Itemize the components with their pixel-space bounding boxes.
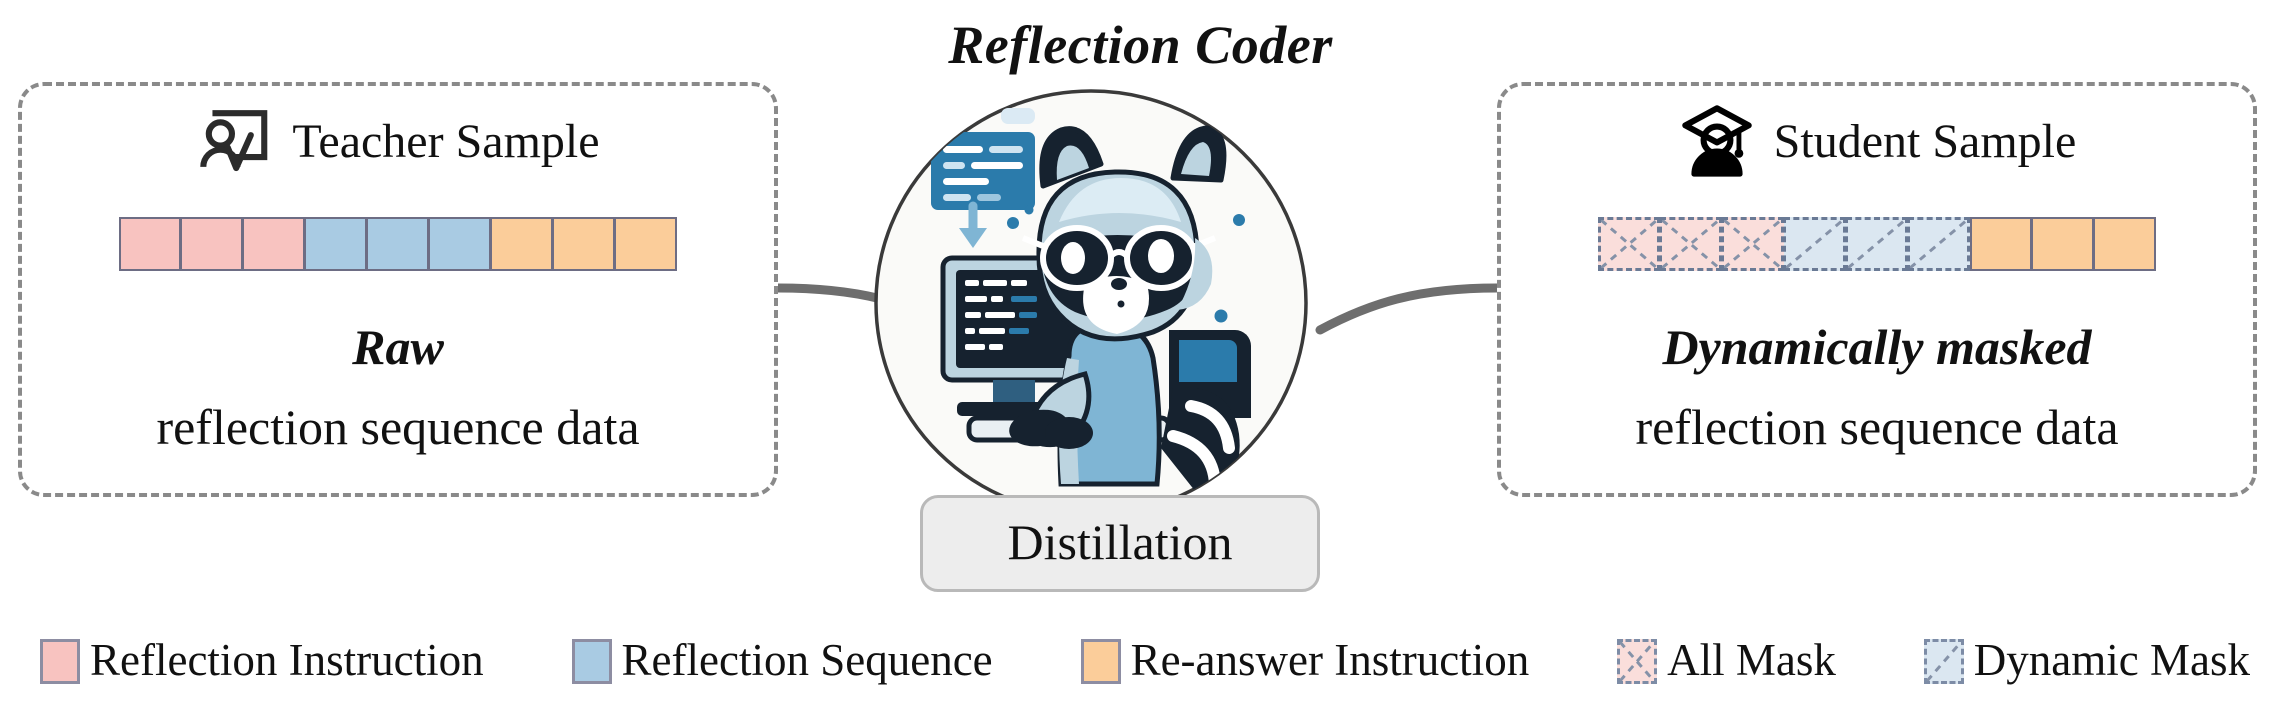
token-cell-all-mask <box>1660 217 1722 271</box>
token-cell-reflection-sequence <box>305 217 367 271</box>
student-caption-emphasis: Dynamically masked <box>1501 318 2253 376</box>
token-cell-all-mask <box>1598 217 1660 271</box>
distillation-box[interactable]: Distillation <box>920 495 1320 592</box>
token-cell-dynamic-mask <box>1908 217 1970 271</box>
token-cell-re-answer-instruction <box>2032 217 2094 271</box>
dynamic-mask-swatch <box>1924 639 1964 684</box>
re-answer-instruction-swatch <box>1081 639 1121 684</box>
token-cell-re-answer-instruction <box>2094 217 2156 271</box>
reflection-coder-diagram: Reflection Coder Teacher Sample Raw refl… <box>0 0 2281 709</box>
legend-label: Dynamic Mask <box>1974 638 2250 683</box>
token-cell-re-answer-instruction <box>615 217 677 271</box>
token-cell-reflection-sequence <box>429 217 491 271</box>
student-panel-title: Student Sample <box>1774 118 2077 166</box>
legend-item-all-mask: All Mask <box>1617 639 1836 684</box>
raccoon-coder-mascot <box>873 88 1310 518</box>
legend-label: All Mask <box>1667 638 1836 683</box>
teacher-sample-panel: Teacher Sample Raw reflection sequence d… <box>18 82 778 497</box>
teacher-board-check-icon <box>196 101 274 179</box>
legend: Reflection InstructionReflection Sequenc… <box>40 630 2250 692</box>
token-cell-re-answer-instruction <box>491 217 553 271</box>
legend-label: Re-answer Instruction <box>1131 638 1530 683</box>
student-panel-header: Student Sample <box>1501 94 2253 186</box>
token-cell-re-answer-instruction <box>553 217 615 271</box>
teacher-caption-emphasis: Raw <box>22 318 774 376</box>
legend-item-re-answer-instruction: Re-answer Instruction <box>1081 639 1530 684</box>
token-cell-dynamic-mask <box>1784 217 1846 271</box>
token-cell-dynamic-mask <box>1846 217 1908 271</box>
student-sequence-bar <box>1598 217 2156 271</box>
reflection-sequence-swatch <box>572 639 612 684</box>
graduation-cap-student-icon <box>1678 101 1756 179</box>
legend-item-reflection-instruction: Reflection Instruction <box>40 639 484 684</box>
token-cell-reflection-instruction <box>181 217 243 271</box>
legend-item-reflection-sequence: Reflection Sequence <box>572 639 993 684</box>
legend-label: Reflection Sequence <box>622 638 993 683</box>
distillation-label: Distillation <box>1008 517 1233 567</box>
token-cell-reflection-instruction <box>243 217 305 271</box>
teacher-panel-title: Teacher Sample <box>292 118 599 166</box>
legend-label: Reflection Instruction <box>90 638 484 683</box>
legend-item-dynamic-mask: Dynamic Mask <box>1924 639 2250 684</box>
token-cell-reflection-sequence <box>367 217 429 271</box>
diagram-title: Reflection Coder <box>0 14 2281 76</box>
student-sample-panel: Student Sample Dynamically masked reflec… <box>1497 82 2257 497</box>
token-cell-reflection-instruction <box>119 217 181 271</box>
token-cell-re-answer-instruction <box>1970 217 2032 271</box>
reflection-instruction-swatch <box>40 639 80 684</box>
teacher-caption-sub: reflection sequence data <box>22 398 774 456</box>
all-mask-swatch <box>1617 639 1657 684</box>
teacher-sequence-bar <box>119 217 677 271</box>
teacher-panel-header: Teacher Sample <box>22 94 774 186</box>
student-caption-sub: reflection sequence data <box>1501 398 2253 456</box>
token-cell-all-mask <box>1722 217 1784 271</box>
